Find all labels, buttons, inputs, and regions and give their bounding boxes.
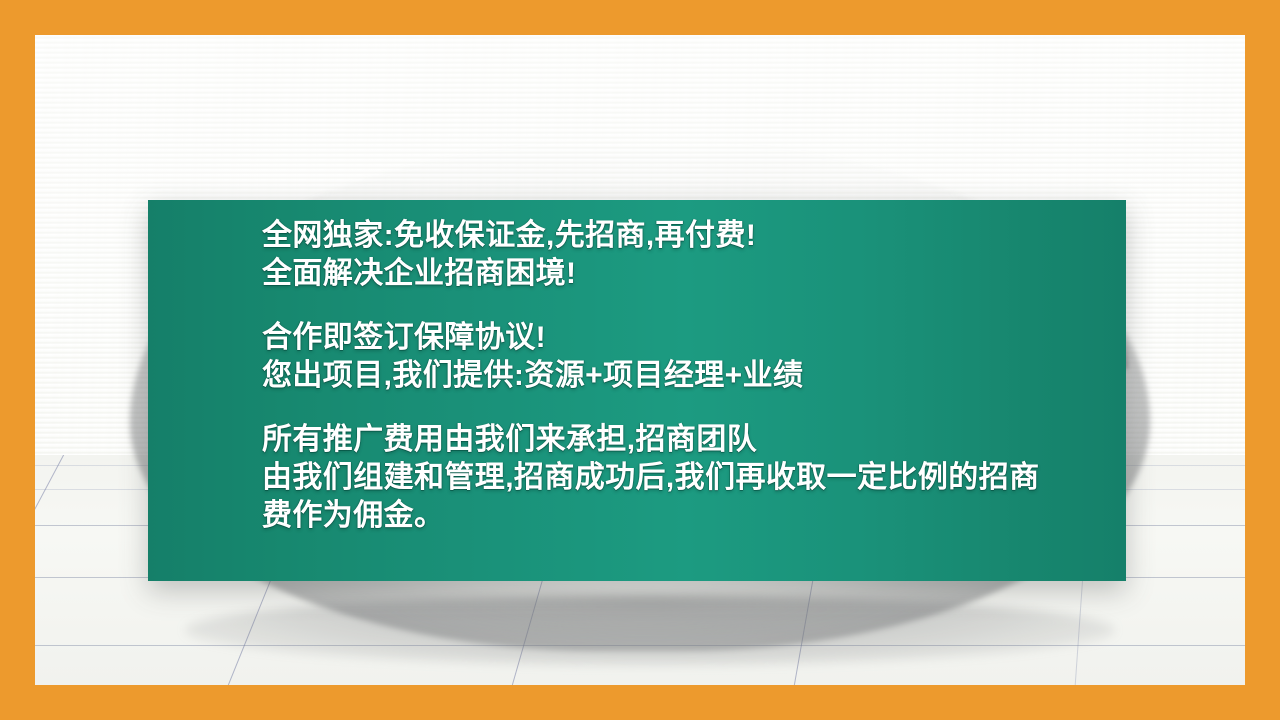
guarantee-line-1: 合作即签订保障协议! xyxy=(262,319,1126,357)
floor-horizontal-line xyxy=(35,645,1245,646)
terms-line-3: 费作为佣金。 xyxy=(262,497,1126,535)
headline-line-1: 全网独家:免收保证金,先招商,再付费! xyxy=(262,217,1126,255)
block-terms: 所有推广费用由我们来承担,招商团队 由我们组建和管理,招商成功后,我们再收取一定… xyxy=(262,421,1126,535)
guarantee-line-2: 您出项目,我们提供:资源+项目经理+业绩 xyxy=(262,357,1126,395)
block-guarantee: 合作即签订保障协议! 您出项目,我们提供:资源+项目经理+业绩 xyxy=(262,319,1126,395)
headline-line-2: 全面解决企业招商困境! xyxy=(262,255,1126,293)
block-headline: 全网独家:免收保证金,先招商,再付费! 全面解决企业招商困境! xyxy=(262,217,1126,293)
block-spacer xyxy=(262,395,1126,421)
promo-content-box: 全网独家:免收保证金,先招商,再付费! 全面解决企业招商困境! 合作即签订保障协… xyxy=(148,200,1126,581)
block-spacer xyxy=(262,293,1126,319)
terms-line-2: 由我们组建和管理,招商成功后,我们再收取一定比例的招商 xyxy=(262,459,1126,497)
slide-canvas: 全网独家:免收保证金,先招商,再付费! 全面解决企业招商困境! 合作即签订保障协… xyxy=(0,0,1280,720)
terms-line-1: 所有推广费用由我们来承担,招商团队 xyxy=(262,421,1126,459)
